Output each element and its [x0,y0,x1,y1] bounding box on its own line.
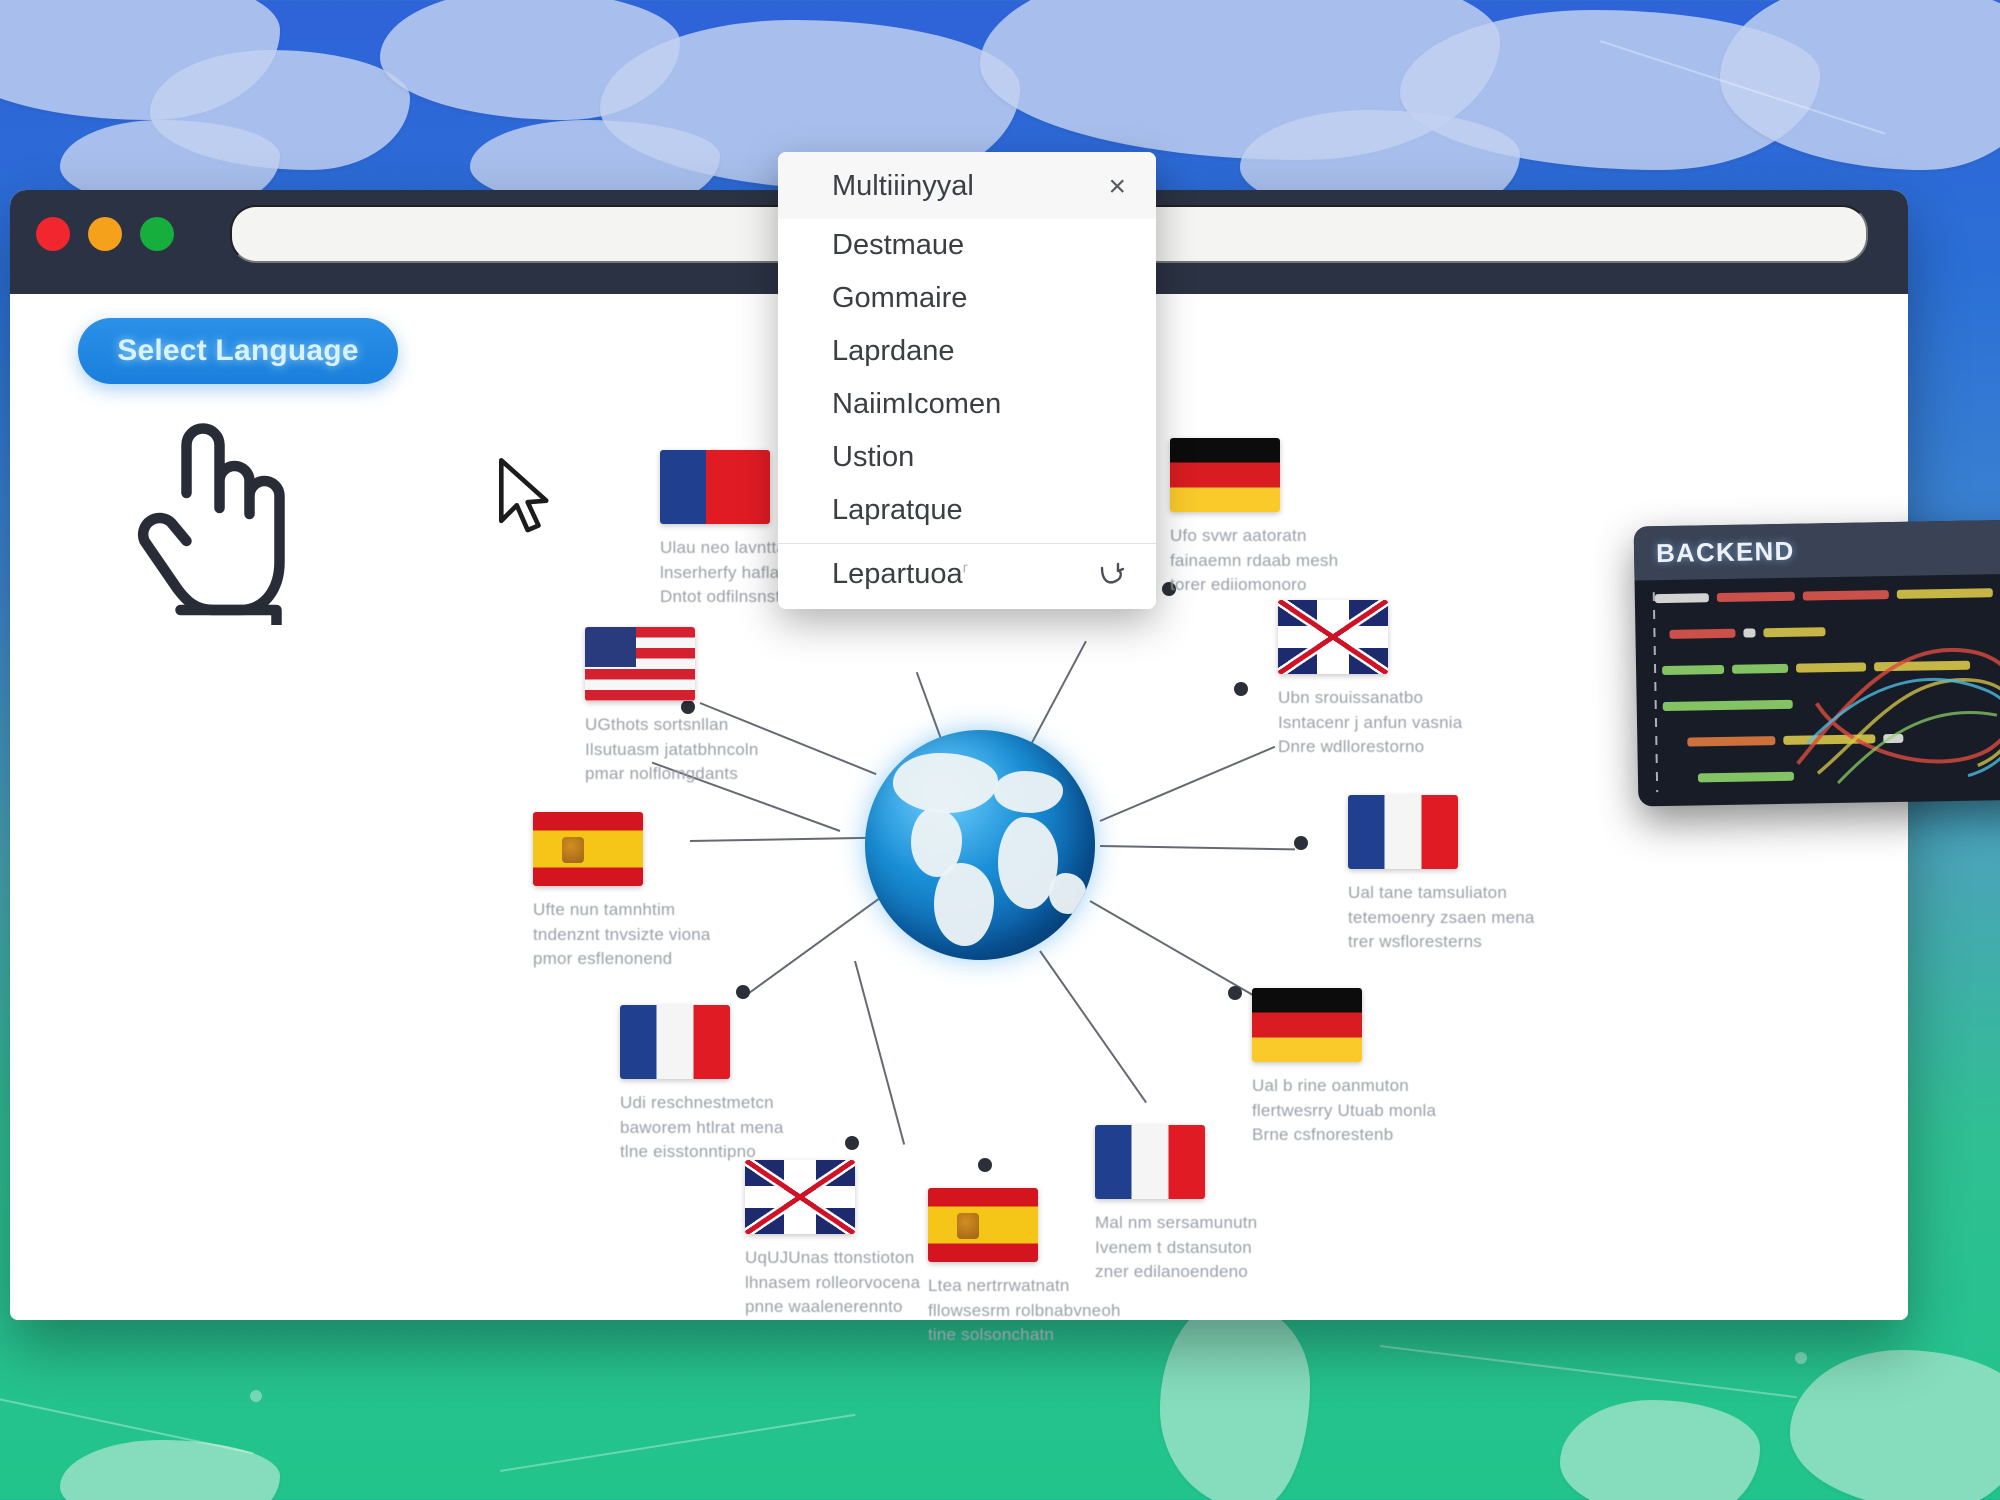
backend-panel-title: BACKEND [1656,535,1795,568]
dropdown-item-4[interactable]: Ustion [778,431,1156,484]
dropdown-item-3[interactable]: NaiimIcomen [778,378,1156,431]
language-node[interactable]: Ubn srouissanatboIsntacenr j anfun vasni… [1278,600,1488,760]
arrow-cursor-icon [492,455,554,537]
language-node[interactable]: Ufte nun tamnhtimtndenznt tnvsizte viona… [533,812,743,972]
dropdown-item-2[interactable]: Laprdane [778,325,1156,378]
code-token [1743,628,1755,637]
swoosh-check-icon [1096,560,1126,590]
france-flag-icon [660,450,770,524]
language-node[interactable]: Ual tane tamsuliatontetemoenry zsaen men… [1348,795,1558,955]
pointing-hand-cursor-icon [118,415,303,625]
code-token [1717,592,1795,602]
germany-flag-icon [1170,438,1280,512]
language-dropdown[interactable]: Multiiinyyal × Destmaue Gommaire Laprdan… [778,152,1156,609]
language-node[interactable]: Ufo svwr aatoratnfainaemn rdaab meshtore… [1170,438,1380,598]
backend-panel-header: BACKEND [1634,520,2000,581]
code-token [1655,593,1709,603]
uk-flag-icon [745,1160,855,1234]
globe-icon [865,730,1095,960]
dropdown-item-1[interactable]: Gommaire [778,272,1156,325]
code-token [1687,736,1775,747]
code-token [1662,665,1724,675]
select-language-button[interactable]: Select Language [78,318,398,384]
code-token [1663,700,1793,711]
window-close-button[interactable] [36,217,70,251]
france-flag-icon [1348,795,1458,869]
dropdown-header: Multiiinyyal × [778,152,1156,219]
germany-flag-icon [1252,988,1362,1062]
node-caption: Ual tane tamsuliatontetemoenry zsaen men… [1348,881,1543,955]
france-flag-icon [620,1005,730,1079]
dropdown-item-0[interactable]: Destmaue [778,219,1156,272]
node-caption: Ufte nun tamnhtimtndenznt tnvsizte viona… [533,898,728,972]
close-icon[interactable]: × [1104,172,1130,202]
language-node[interactable]: Ual b rine oanmutonflertwesrry Utuab mon… [1252,988,1462,1148]
spain-flag-icon [928,1188,1038,1262]
node-caption: Mal nm sersamunutnIvenem t dstansutonzne… [1095,1211,1290,1285]
language-node[interactable]: Udi reschnestmetcnbaworem htlrat menatln… [620,1005,830,1165]
dropdown-item-5[interactable]: Lapratque [778,484,1156,537]
node-caption: Udi reschnestmetcnbaworem htlrat menatln… [620,1091,815,1165]
window-minimize-button[interactable] [88,217,122,251]
backend-code-panel: BACKEND [1634,520,2000,807]
code-token [1698,772,1794,783]
code-token [1732,664,1788,674]
language-node[interactable]: UqUJUnas ttonstiotonlhnasem rolleorvocen… [745,1160,955,1320]
node-caption: UqUJUnas ttonstiotonlhnasem rolleorvocen… [745,1246,940,1320]
language-node[interactable]: Mal nm sersamunutnIvenem t dstansutonzne… [1095,1125,1305,1285]
dropdown-footer-item[interactable]: Lepartuoar [778,544,1156,609]
node-caption: UGthots sortsnllanIlsutuasm jatatbhncoln… [585,713,780,787]
window-maximize-button[interactable] [140,217,174,251]
uk-flag-icon [1278,600,1388,674]
code-token [1669,629,1735,639]
node-caption: Ufo svwr aatoratnfainaemn rdaab meshtore… [1170,524,1365,598]
dropdown-title: Multiiinyyal [832,170,974,203]
node-caption: Ltea nertrrwatnatnfllowsesrm rolbnabvneo… [928,1274,1123,1348]
language-node[interactable]: UGthots sortsnllanIlsutuasm jatatbhncoln… [585,627,795,787]
dropdown-footer-label: Lepartuoar [832,558,968,591]
france-flag-icon [1095,1125,1205,1199]
spain-flag-icon [533,812,643,886]
node-caption: Ubn srouissanatboIsntacenr j anfun vasni… [1278,686,1473,760]
backend-network-sparkline [1785,579,2000,794]
usa-flag-icon [585,627,695,701]
